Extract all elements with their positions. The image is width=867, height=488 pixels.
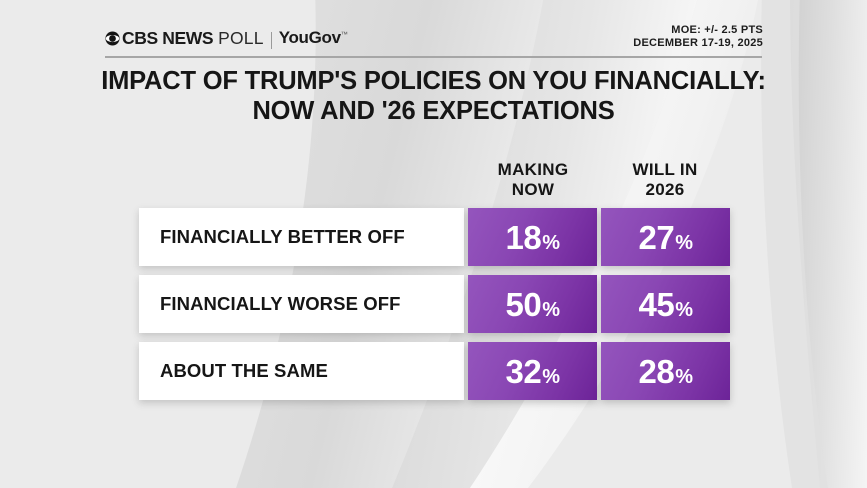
column-header-making-now-line2: NOW [468,180,598,200]
value-cell-making-now: 50% [468,275,597,333]
value-cell-will-in-2026: 28% [601,342,730,400]
percent-sign: % [675,367,692,387]
value-will-in-2026: 27% [638,221,692,254]
row-label-cell: FINANCIALLY WORSE OFF [139,275,464,333]
column-headers: MAKING NOW WILL IN 2026 [468,160,730,199]
poll-results-table: FINANCIALLY BETTER OFF 18% 27% FINANCIAL… [139,208,730,400]
value-will-in-2026: 45% [638,288,692,321]
title-line-1: IMPACT OF TRUMP'S POLICIES ON YOU FINANC… [0,67,867,97]
table-row: ABOUT THE SAME 32% 28% [139,342,730,400]
percent-sign: % [675,233,692,253]
field-dates-text: DECEMBER 17-19, 2025 [633,37,763,50]
table-row: FINANCIALLY BETTER OFF 18% 27% [139,208,730,266]
poll-metadata: MOE: +/- 2.5 PTS DECEMBER 17-19, 2025 [633,24,763,51]
header-divider-rule [105,56,762,58]
column-header-will-in-2026-line2: 2026 [600,180,730,200]
margin-of-error-text: MOE: +/- 2.5 PTS [633,24,763,37]
row-label: ABOUT THE SAME [160,360,328,382]
poll-wordmark: POLL [218,28,264,49]
column-header-making-now: MAKING NOW [468,160,598,199]
percent-sign: % [675,300,692,320]
cbs-news-poll-graphic: CBS NEWS POLL YouGov™ MOE: +/- 2.5 PTS D… [0,0,867,488]
value-making-now: 50% [505,288,559,321]
yougov-wordmark: YouGov™ [279,28,348,48]
percent-sign: % [542,367,559,387]
row-label: FINANCIALLY WORSE OFF [160,293,401,315]
logo-row: CBS NEWS POLL YouGov™ MOE: +/- 2.5 PTS D… [105,26,763,50]
page-title: IMPACT OF TRUMP'S POLICIES ON YOU FINANC… [0,67,867,126]
row-label-cell: ABOUT THE SAME [139,342,464,400]
trademark-mark: ™ [341,31,348,38]
row-label: FINANCIALLY BETTER OFF [160,226,405,248]
cbs-eye-icon [105,31,120,46]
value-making-now: 32% [505,355,559,388]
row-label-cell: FINANCIALLY BETTER OFF [139,208,464,266]
value-cell-making-now: 32% [468,342,597,400]
table-row: FINANCIALLY WORSE OFF 50% 45% [139,275,730,333]
value-making-now: 18% [505,221,559,254]
column-header-making-now-line1: MAKING [468,160,598,180]
title-line-2: NOW AND '26 EXPECTATIONS [0,97,867,127]
cbs-news-wordmark: CBS NEWS [122,28,213,49]
value-cell-making-now: 18% [468,208,597,266]
percent-sign: % [542,300,559,320]
cbs-news-poll-logo: CBS NEWS POLL YouGov™ [105,26,348,50]
percent-sign: % [542,233,559,253]
value-will-in-2026: 28% [638,355,692,388]
value-cell-will-in-2026: 45% [601,275,730,333]
logo-divider [271,32,272,49]
column-header-will-in-2026-line1: WILL IN [600,160,730,180]
value-cell-will-in-2026: 27% [601,208,730,266]
column-header-will-in-2026: WILL IN 2026 [600,160,730,199]
